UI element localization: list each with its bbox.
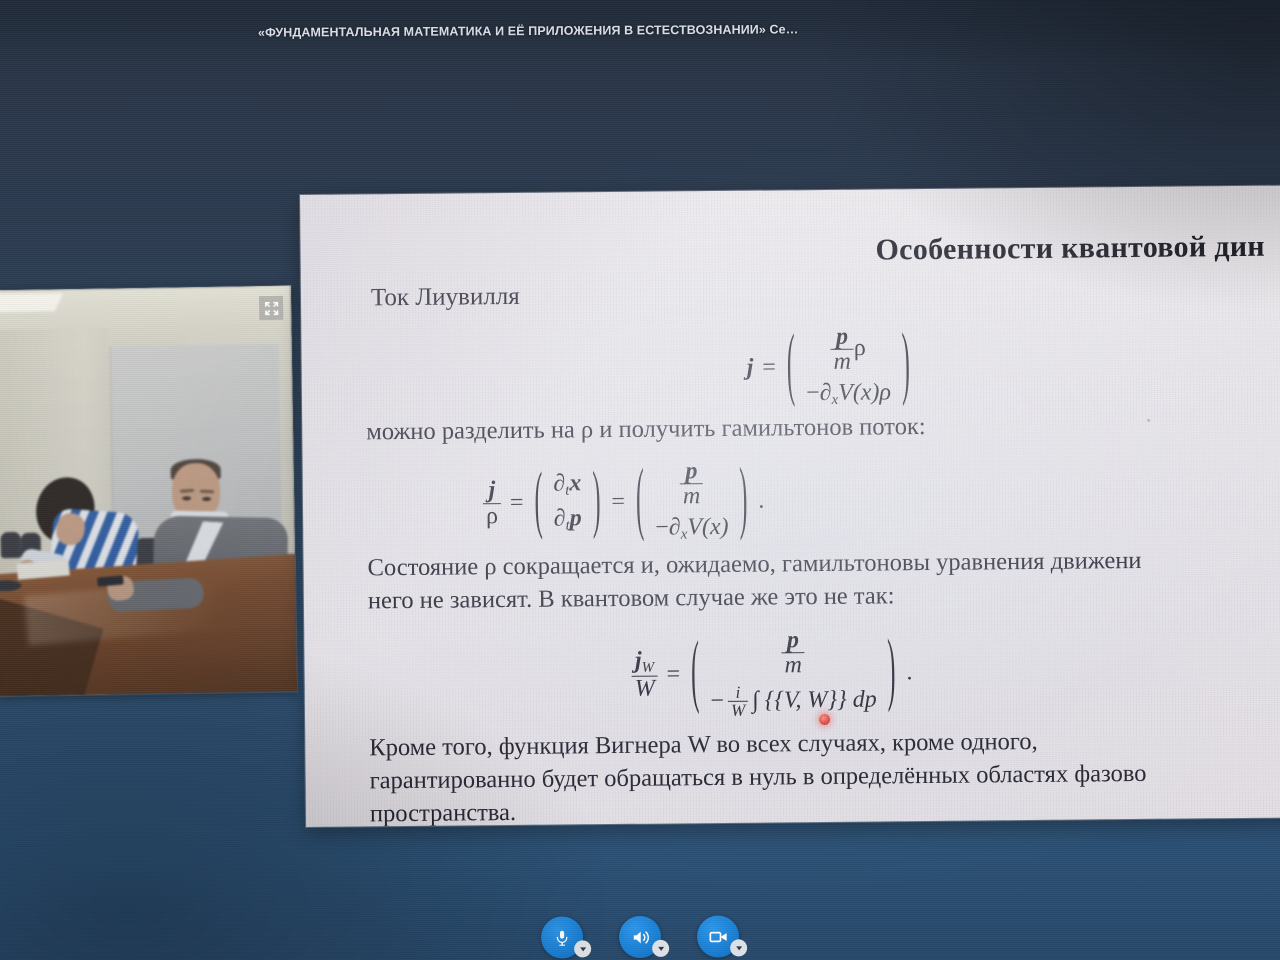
formula-3-lhs-num-sub: W	[642, 660, 655, 676]
conference-title: «ФУНДАМЕНТАЛЬНАЯ МАТЕМАТИКА И ЕЁ ПРИЛОЖЕ…	[258, 22, 798, 39]
formula-2-m1-row1-op: ∂	[553, 471, 565, 497]
formula-2-m1-row-2: ∂tp	[554, 505, 582, 535]
formula-2-m1-row2-tail: p	[570, 505, 582, 531]
formula-3-lhs: jW W	[631, 648, 658, 701]
formula-2-equals-1: =	[510, 489, 524, 516]
presentation-slide[interactable]: Особенности квантовой дин Ток Лиувилля j…	[300, 185, 1280, 827]
laser-pointer-dot	[819, 714, 830, 725]
formula-1-lhs: j	[747, 354, 754, 381]
slide-heading: Особенности квантовой дин	[875, 230, 1265, 268]
formula-2-period: .	[758, 487, 764, 514]
formula-2-m1-row1-tail: x	[569, 471, 581, 497]
paren-right: )	[590, 460, 603, 545]
formula-2-m2-row1-den: m	[680, 484, 704, 510]
microphone-options-chevron[interactable]	[574, 940, 591, 957]
formula-1-matrix: ( p m ρ −∂xV(x)ρ )	[784, 324, 912, 409]
slide-paragraph-1: можно разделить на ρ и получить гамильто…	[366, 411, 926, 449]
formula-2-m2-row1-num: p	[682, 459, 700, 484]
formula-2-m1-row-1: ∂tx	[553, 471, 581, 501]
formula-3-period: .	[906, 659, 912, 686]
formula-hamiltonian-flow: j ρ = ( ∂tx ∂tp ) = (	[483, 459, 765, 546]
formula-1-row2-op: −∂	[806, 380, 832, 406]
formula-3-row2-frac-num: i	[733, 684, 744, 701]
microphone-icon	[553, 928, 571, 946]
toolbar-clip	[0, 890, 1280, 960]
participant-video-tile[interactable]	[0, 286, 297, 697]
video-grain-overlay	[0, 286, 297, 697]
paren-left: (	[784, 321, 797, 413]
paren-right: )	[737, 455, 750, 547]
formula-3-row1-den: m	[781, 653, 805, 679]
fullscreen-expand-icon[interactable]	[259, 296, 283, 320]
camera-button[interactable]	[697, 915, 739, 957]
slide-paragraph-3-line-2: гарантированно будет обращаться в нуль в…	[369, 758, 1146, 798]
formula-wigner-current: jW W = ( p m − i W ∫	[631, 627, 913, 720]
formula-2-m2-row-1: p m	[680, 459, 704, 509]
formula-2-matrix-2: ( p m −∂xV(x) )	[634, 459, 750, 544]
formula-2-m2-row2-tail: V(x)	[687, 514, 729, 540]
speaker-options-chevron[interactable]	[652, 940, 669, 957]
slide-subheading: Ток Лиувилля	[371, 283, 520, 312]
formula-3-row2-frac: i W	[728, 684, 749, 720]
slide-paragraph-2-line-1: Состояние ρ сокращается и, ожидаемо, гам…	[367, 545, 1141, 585]
formula-3-equals: =	[666, 661, 680, 688]
paren-left: (	[634, 456, 647, 548]
slide-paragraph-3-line-1: Кроме того, функция Вигнера W во всех сл…	[369, 726, 1038, 765]
microphone-button[interactable]	[541, 916, 583, 958]
speaker-button[interactable]	[619, 916, 661, 958]
chevron-down-icon	[580, 947, 586, 951]
formula-3-row2-tail: ∫ {{V, W}} dp	[752, 686, 877, 715]
formula-2-m2-row2-op: −∂	[655, 514, 681, 540]
conference-title-bar: «ФУНДАМЕНТАЛЬНАЯ МАТЕМАТИКА И ЕЁ ПРИЛОЖЕ…	[0, 0, 1280, 62]
paren-right: )	[885, 627, 898, 719]
formula-1-row1-num: p	[833, 325, 851, 350]
paren-left: (	[532, 460, 545, 545]
formula-2-m1-row2-op: ∂	[554, 505, 566, 531]
camera-options-chevron[interactable]	[730, 939, 747, 956]
media-toolbar	[0, 890, 1280, 960]
formula-2-m2-row-2: −∂xV(x)	[655, 514, 729, 544]
paren-right: )	[899, 320, 912, 412]
formula-1-row1-tail: ρ	[854, 335, 866, 361]
formula-3-row2-minus: −	[710, 688, 724, 716]
formula-3-row-1: p m	[781, 628, 805, 678]
formula-2-lhs: j ρ	[483, 478, 501, 528]
formula-1-row-1: p m ρ	[830, 325, 866, 375]
slide-speck	[1147, 419, 1150, 422]
formula-1-row-2: −∂xV(x)ρ	[806, 379, 891, 409]
slide-paragraph-3-line-3: пространства.	[370, 797, 516, 827]
formula-3-row-2: − i W ∫ {{V, W}} dp	[710, 682, 877, 719]
formula-2-equals-2: =	[611, 488, 625, 515]
formula-2-matrix-1: ( ∂tx ∂tp )	[532, 470, 603, 534]
formula-2-lhs-den: ρ	[483, 503, 501, 529]
formula-3-matrix: ( p m − i W ∫ {{V, W}} dp )	[689, 627, 898, 720]
paren-left: (	[689, 629, 702, 721]
formula-3-lhs-num-wrap: jW	[632, 648, 657, 676]
chevron-down-icon	[658, 947, 664, 951]
formula-1-row1-den: m	[830, 349, 854, 375]
slide-paragraph-2-line-2: него не зависят. В квантовом случае же э…	[368, 580, 895, 617]
formula-1-equals: =	[762, 354, 776, 381]
formula-2-lhs-num: j	[485, 478, 498, 503]
speaker-icon	[631, 927, 650, 946]
formula-1-row2-tail: V(x)ρ	[838, 379, 891, 406]
chevron-down-icon	[736, 946, 742, 950]
screen-photo: «ФУНДАМЕНТАЛЬНАЯ МАТЕМАТИКА И ЕЁ ПРИЛОЖЕ…	[0, 0, 1280, 960]
formula-3-lhs-den: W	[632, 676, 658, 702]
video-camera-icon	[708, 926, 729, 947]
formula-3-row1-num: p	[784, 628, 802, 653]
formula-liouville-current: j = ( p m ρ −∂xV(x)ρ )	[746, 324, 912, 410]
formula-3-row2-frac-den: W	[728, 701, 748, 720]
